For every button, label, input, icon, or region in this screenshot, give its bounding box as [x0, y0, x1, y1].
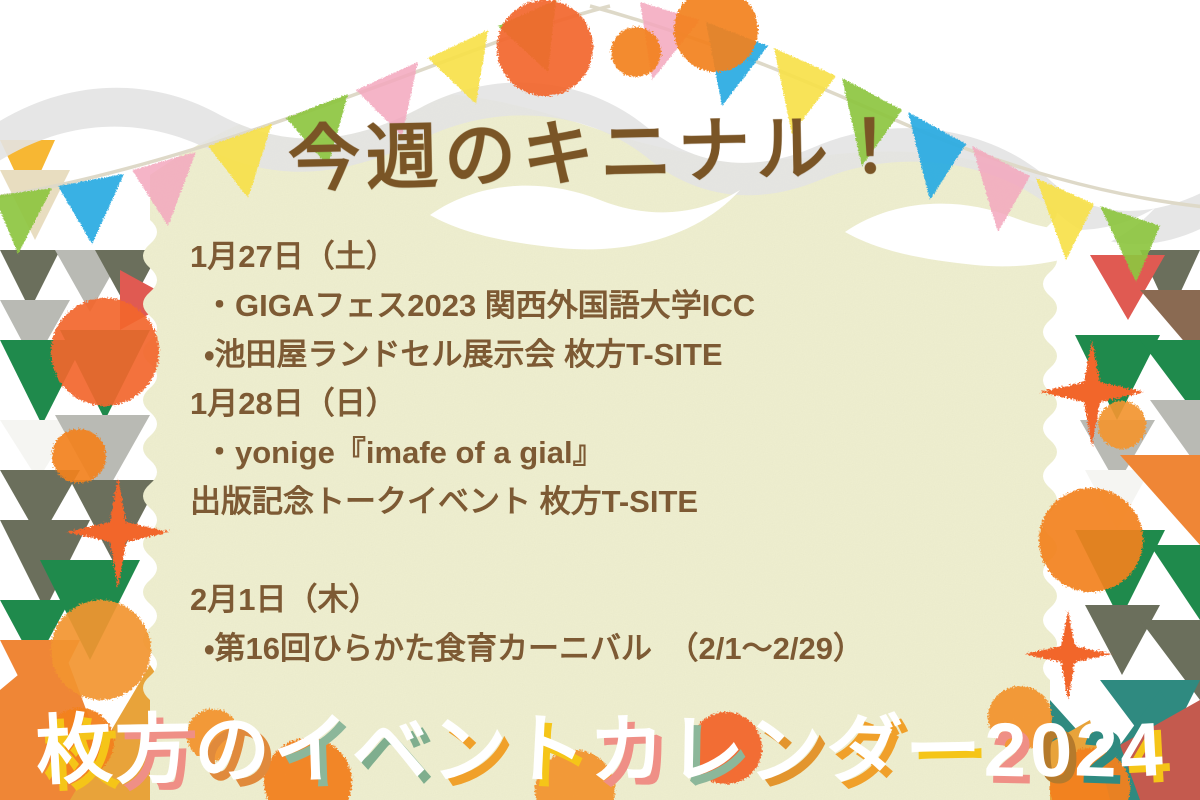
- schedule-item: ・第16回ひらかた食育カーニバル （2/1〜2/29）: [190, 624, 1050, 673]
- banner-char: イ: [271, 695, 354, 800]
- banner-char: 2: [1072, 695, 1121, 800]
- banner-char: 枚: [33, 694, 118, 800]
- banner-char: ン: [744, 694, 829, 800]
- banner-char: カ: [587, 695, 670, 800]
- bottom-banner-title: 枚方のイベントカレンダー2024: [0, 696, 1200, 800]
- banner-char: ー: [903, 695, 984, 800]
- banner-char: 0: [1027, 695, 1076, 800]
- banner-char: ベ: [350, 695, 433, 800]
- schedule-date: 2月1日（木）: [190, 575, 1050, 624]
- banner-char: ン: [429, 695, 510, 800]
- banner-char: 2: [982, 696, 1029, 800]
- banner-char: ト: [507, 694, 592, 800]
- schedule-date: 1月28日（日）: [190, 379, 1050, 428]
- banner-char: レ: [666, 695, 747, 800]
- event-schedule-list: 1月27日（土） ・GIGAフェス2023 関西外国語大学ICC ・池田屋ランド…: [190, 232, 1050, 673]
- schedule-item-continued: 出版記念トークイベント 枚方T-SITE: [190, 477, 1050, 526]
- banner-char: 4: [1116, 695, 1167, 800]
- schedule-item: ・GIGAフェス2023 関西外国語大学ICC: [190, 281, 1050, 330]
- banner-char: 方: [113, 695, 194, 800]
- poster-canvas: 今週のキニナル！ 1月27日（土） ・GIGAフェス2023 関西外国語大学IC…: [0, 0, 1200, 800]
- banner-char: の: [192, 695, 273, 800]
- banner-char: ダ: [824, 695, 907, 800]
- schedule-item: ・池田屋ランドセル展示会 枚方T-SITE: [190, 330, 1050, 379]
- schedule-date: 1月27日（土）: [190, 232, 1050, 281]
- schedule-item: ・yonige『imafe of a gial』: [190, 428, 1050, 477]
- schedule-spacer: [190, 526, 1050, 575]
